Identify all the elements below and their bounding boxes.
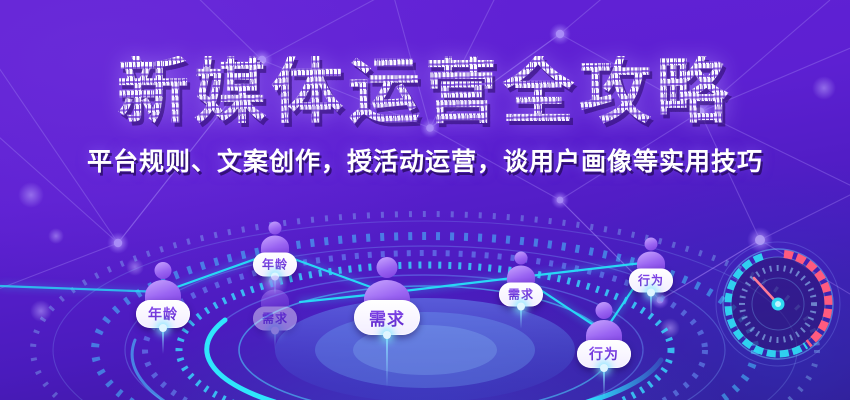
- persona-label-text: 需求: [262, 310, 288, 327]
- persona-label-text: 行为: [589, 344, 619, 364]
- persona-label-text: 年龄: [148, 304, 178, 324]
- persona-node[interactable]: 行为: [577, 302, 631, 368]
- node-stem: [603, 368, 605, 398]
- persona-node[interactable]: 行为: [629, 238, 673, 293]
- stem-dot: [517, 303, 525, 311]
- node-stem: [162, 328, 164, 354]
- stem-dot: [271, 327, 279, 335]
- persona-label-text: 年龄: [262, 256, 288, 273]
- promo-banner: 新媒体运营全攻略 平台规则、文案创作，授活动运营，谈用户画像等实用技巧 年龄年龄…: [0, 0, 850, 400]
- persona-label-text: 需求: [508, 286, 534, 303]
- node-stem: [650, 293, 652, 317]
- stem-dot: [647, 289, 655, 297]
- persona-node[interactable]: 年龄: [253, 222, 297, 277]
- node-stem: [274, 331, 276, 351]
- node-stem: [386, 335, 388, 387]
- persona-label-text: 需求: [369, 305, 405, 330]
- persona-node[interactable]: 年龄: [136, 262, 190, 328]
- person-icon: [634, 238, 668, 272]
- stem-dot: [383, 331, 391, 339]
- person-icon: [258, 276, 292, 310]
- stem-dot: [600, 364, 608, 372]
- persona-node-group: 年龄年龄需求需求需求行为行为: [0, 0, 850, 400]
- persona-node[interactable]: 需求: [499, 252, 543, 307]
- persona-node[interactable]: 需求: [253, 276, 297, 331]
- stem-dot: [159, 324, 167, 332]
- person-icon: [258, 222, 292, 256]
- persona-label[interactable]: 需求: [354, 300, 420, 335]
- persona-node[interactable]: 需求: [354, 257, 420, 335]
- person-icon: [504, 252, 538, 286]
- node-stem: [520, 307, 522, 329]
- persona-label-text: 行为: [638, 272, 664, 289]
